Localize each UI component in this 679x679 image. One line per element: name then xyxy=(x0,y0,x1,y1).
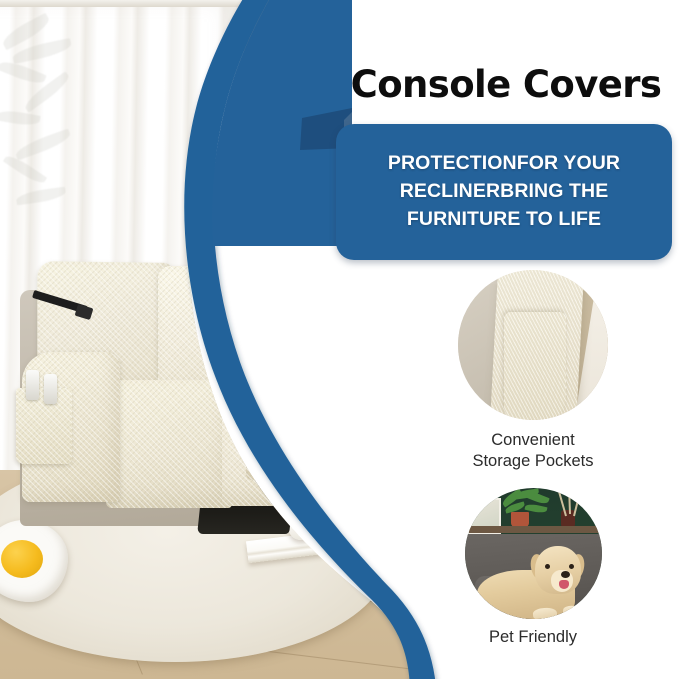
promo-banner: PROTECTIONFOR YOUR RECLINERBRING THE FUR… xyxy=(336,124,672,260)
plant-shadow xyxy=(0,14,116,244)
side-storage-pocket xyxy=(16,388,72,464)
product-marketing-image: Console Covers PROTECTIONFOR YOUR RECLIN… xyxy=(0,0,679,679)
cover-seat-left xyxy=(106,380,232,508)
feature-storage-pockets: Convenient Storage Pockets xyxy=(423,270,643,472)
cover-backrest-right xyxy=(158,266,308,396)
curtain-rod xyxy=(0,0,242,7)
cover-arm-right xyxy=(246,344,354,480)
promo-banner-text: PROTECTIONFOR YOUR RECLINERBRING THE FUR… xyxy=(336,124,672,260)
page-title: Console Covers xyxy=(340,66,672,105)
cover-seat-right xyxy=(222,386,352,506)
feature-pet-friendly: Pet Friendly xyxy=(423,488,643,648)
golden-retriever xyxy=(477,546,601,619)
recliner-loveseat xyxy=(8,262,376,532)
feature-label-storage-pockets: Convenient Storage Pockets xyxy=(423,430,643,472)
egg-shaped-cushion xyxy=(0,520,68,602)
storage-pocket-photo xyxy=(458,270,608,420)
pet-friendly-photo xyxy=(465,488,602,619)
feature-label-pet-friendly: Pet Friendly xyxy=(423,627,643,648)
